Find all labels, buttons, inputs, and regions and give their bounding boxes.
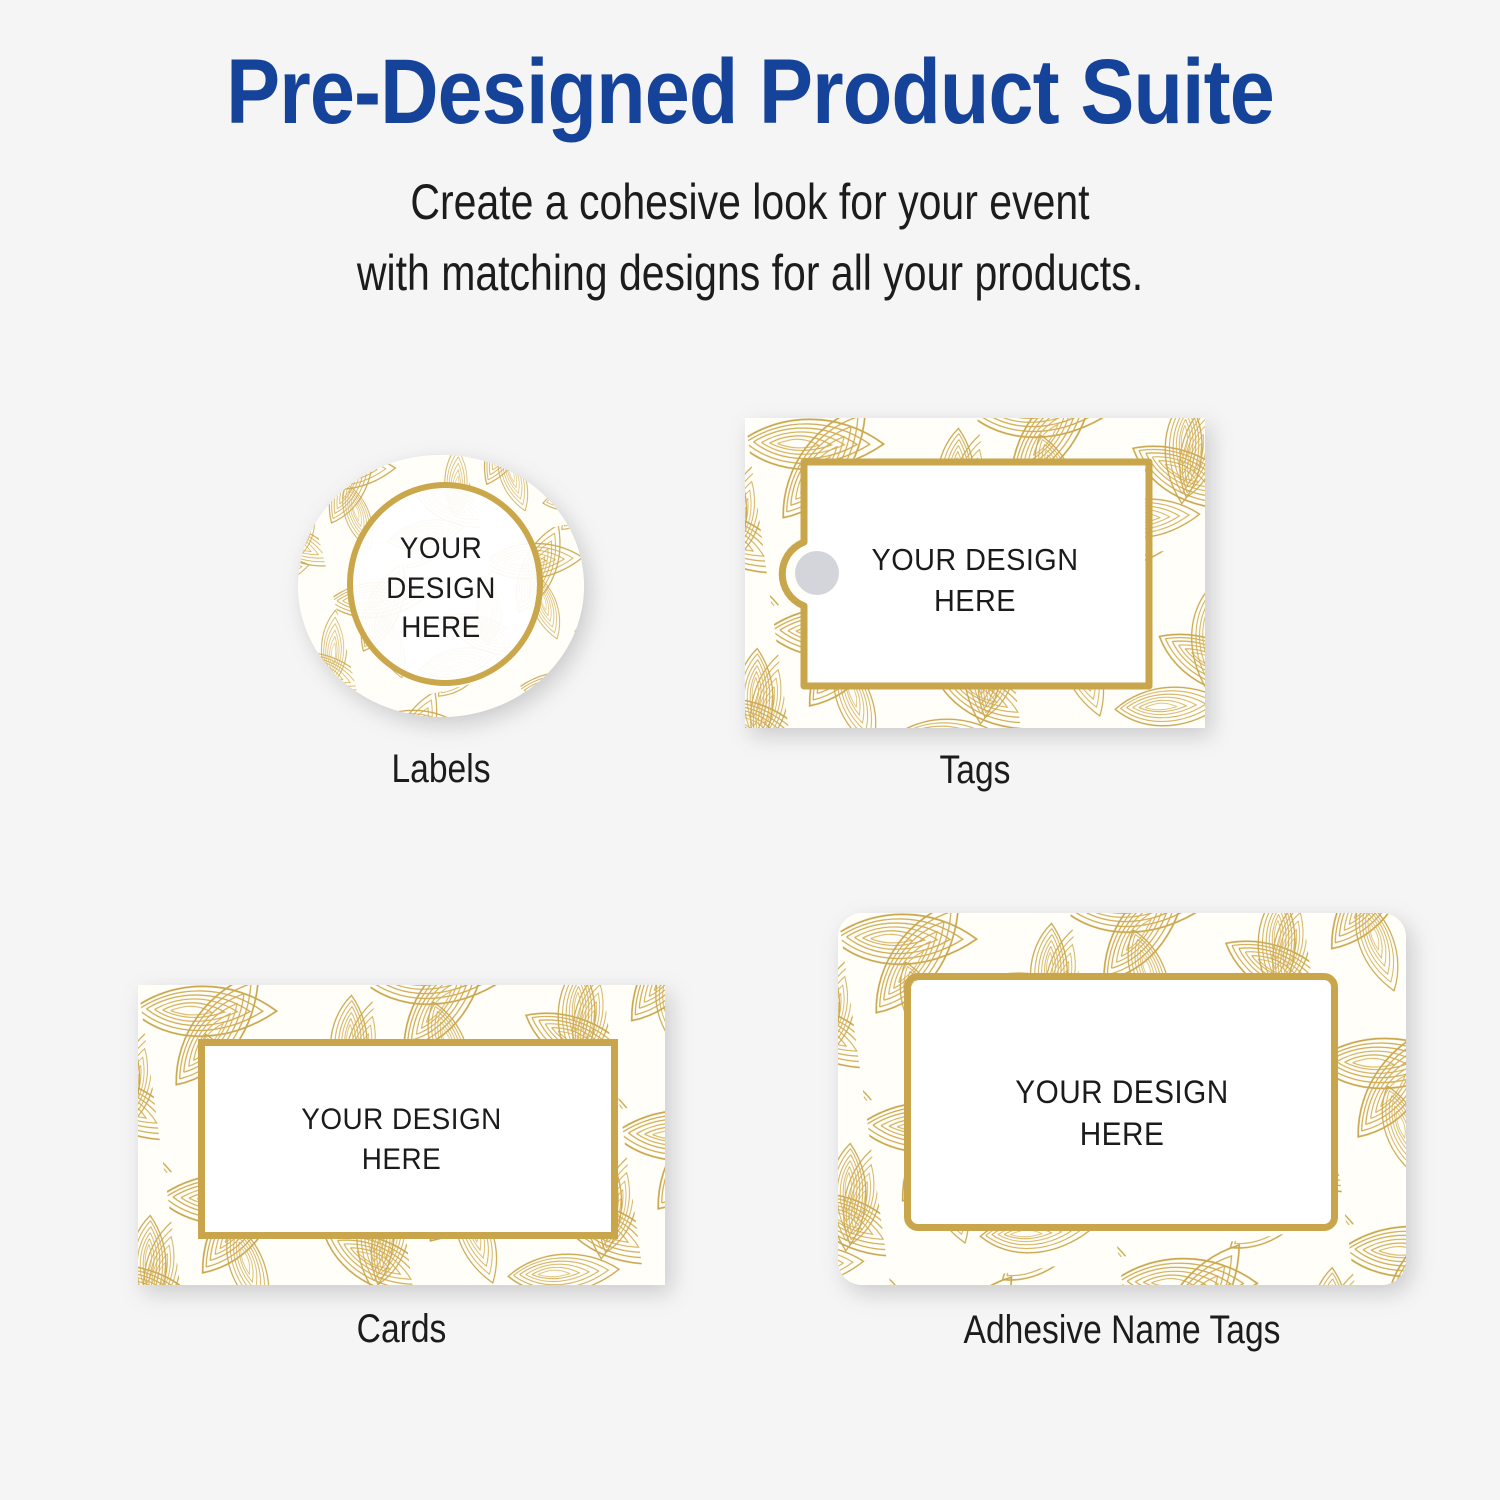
product-caption-cards: Cards: [180, 1307, 623, 1352]
nametag-artwork-face: YOUR DESIGN HERE: [838, 913, 1406, 1285]
product-adhesive-name-tags[interactable]: YOUR DESIGN HERE Adhesive Name Tags: [838, 913, 1406, 1285]
product-caption-tags: Tags: [782, 748, 1168, 793]
product-labels[interactable]: YOUR DESIGN HERE Labels: [298, 455, 584, 717]
subtitle-line-2: with matching designs for all your produ…: [135, 238, 1365, 309]
page-subtitle: Create a cohesive look for your event wi…: [135, 167, 1365, 309]
subtitle-line-1: Create a cohesive look for your event: [135, 167, 1365, 238]
label-artwork-face: YOUR DESIGN HERE: [298, 455, 584, 717]
tag-punch-hole: [795, 551, 839, 595]
tag-artwork-face: YOUR DESIGN HERE: [745, 418, 1205, 728]
nametag-gold-frame: [904, 973, 1338, 1231]
product-cards[interactable]: YOUR DESIGN HERE Cards: [138, 985, 665, 1285]
product-caption-labels: Labels: [321, 747, 561, 792]
product-caption-adhesive-name-tags: Adhesive Name Tags: [883, 1308, 1360, 1353]
card-gold-frame: [198, 1039, 618, 1239]
product-tags[interactable]: YOUR DESIGN HERE Tags: [745, 418, 1205, 728]
card-artwork-face: YOUR DESIGN HERE: [138, 985, 665, 1285]
page-title: Pre-Designed Product Suite: [90, 44, 1410, 141]
page-root: Pre-Designed Product Suite Create a cohe…: [0, 0, 1500, 1500]
label-gold-ring: [347, 482, 543, 686]
header: Pre-Designed Product Suite Create a cohe…: [0, 0, 1500, 309]
